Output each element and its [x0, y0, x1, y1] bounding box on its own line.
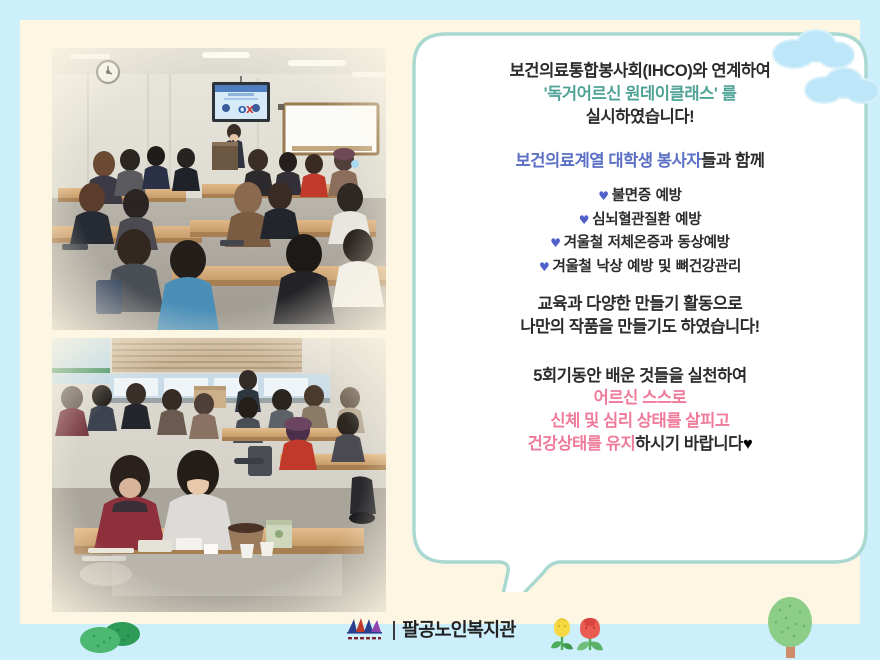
list-item-label: 불면증 예방: [612, 188, 682, 204]
closing-line-3: 신체 및 심리 상태를 살피고: [440, 410, 840, 433]
closing-tail: 하시기 바랍니다: [635, 435, 743, 453]
heart-icon-black: ♥: [743, 435, 752, 453]
list-item-label: 겨울철 낙상 예방 및 뼈건강관리: [552, 259, 741, 275]
heart-icon: ♥: [598, 189, 608, 203]
closing-line-2: 어르신 스스로: [440, 387, 840, 410]
activity-photo: [52, 338, 386, 612]
poster-canvas: O X: [0, 0, 880, 660]
asia-foundation-logo-icon: [344, 616, 386, 644]
lecture-photo: O X: [52, 48, 386, 330]
made-line-2: 나만의 작품을 만들기도 하였습니다!: [440, 316, 840, 339]
closing-line-4: 건강상태를 유지하시기 바랍니다♥: [440, 433, 840, 456]
made-line-1: 교육과 다양한 만들기 활동으로: [440, 293, 840, 316]
closing-line-1: 5회기동안 배운 것들을 실천하여: [440, 365, 840, 388]
volunteer-heading: 보건의료계열 대학생 봉사자들과 함께: [440, 150, 840, 173]
list-item: ♥불면증 예방: [440, 185, 840, 208]
svg-text:X: X: [246, 105, 254, 116]
cloud-icon-mid: [800, 62, 880, 111]
list-item-label: 겨울철 저체온증과 동상예방: [564, 235, 730, 251]
spacer-after-intro: [440, 128, 840, 150]
footer: 팔공노인복지관: [0, 608, 880, 660]
volunteer-heading-tail: 들과 함께: [701, 152, 764, 170]
brand-lockup: 팔공노인복지관: [344, 616, 516, 644]
brand-divider: [393, 621, 395, 640]
intro-line-3: 실시하였습니다!: [440, 106, 840, 129]
spacer-after-heading: [440, 173, 840, 185]
spacer-after-list: [440, 279, 840, 293]
list-item-label: 심뇌혈관질환 예방: [592, 212, 701, 228]
volunteer-heading-highlight: 보건의료계열 대학생 봉사자: [515, 152, 701, 170]
message-bubble: 보건의료통합봉사회(IHCO)와 연계하여 '독거어르신 원데이클래스' 를 실…: [412, 32, 868, 592]
heart-icon: ♥: [550, 236, 560, 250]
list-item: ♥겨울철 저체온증과 동상예방: [440, 232, 840, 255]
organization-name: 팔공노인복지관: [402, 621, 516, 640]
heart-icon: ♥: [539, 260, 549, 274]
list-item: ♥심뇌혈관질환 예방: [440, 209, 840, 232]
heart-icon: ♥: [579, 213, 589, 227]
spacer-after-made: [440, 339, 840, 365]
list-item: ♥겨울철 낙상 예방 및 뼈건강관리: [440, 256, 840, 279]
intro-line-2: '독거어르신 원데이클래스' 를: [440, 83, 840, 106]
topic-list: ♥불면증 예방 ♥심뇌혈관질환 예방 ♥겨울철 저체온증과 동상예방 ♥겨울철 …: [440, 185, 840, 279]
closing-highlight: 건강상태를 유지: [528, 435, 636, 453]
